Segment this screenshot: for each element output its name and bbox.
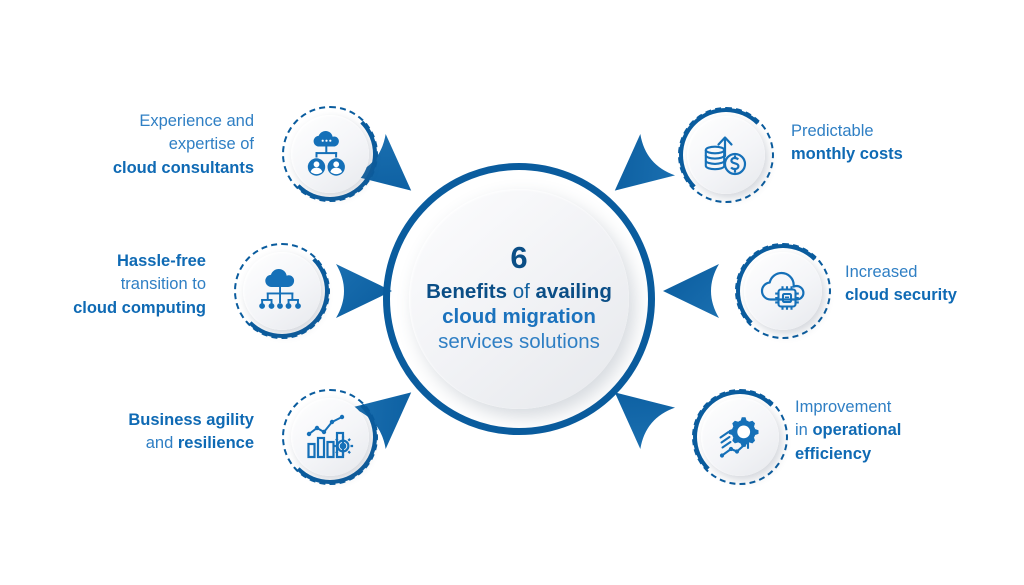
- label-cloud-security: Increased cloud security: [845, 261, 957, 308]
- label-line: Predictable: [791, 120, 903, 143]
- label-prefix: and: [146, 434, 178, 452]
- label-line: transition to: [73, 273, 206, 296]
- badge-inner-disc: [291, 398, 369, 476]
- label-prefix: in: [795, 421, 812, 439]
- center-hub: 6 Benefits of availing cloud migration s…: [383, 163, 655, 435]
- label-line-bold: cloud computing: [73, 297, 206, 320]
- label-line: Experience and: [113, 110, 254, 133]
- label-line: Increased: [845, 261, 957, 284]
- hub-inner-disc: 6 Benefits of availing cloud migration s…: [409, 189, 629, 409]
- hub-title-bold-b: availing: [536, 280, 612, 303]
- label-line-mixed: and resilience: [128, 432, 254, 455]
- label-line: expertise of: [113, 133, 254, 156]
- label-line-bold: monthly costs: [791, 143, 903, 166]
- node-monthly-costs[interactable]: [678, 107, 774, 203]
- label-cloud-consultants: Experience and expertise of cloud consul…: [113, 110, 254, 180]
- badge-inner-disc: [687, 116, 765, 194]
- cloud-chip-icon: [759, 270, 807, 312]
- label-monthly-costs: Predictable monthly costs: [791, 120, 903, 167]
- label-line-bold: cloud security: [845, 284, 957, 307]
- label-strong: operational: [812, 421, 901, 439]
- hub-number: 6: [510, 242, 527, 275]
- badge-inner-disc: [701, 398, 779, 476]
- gear-trend-arrow-icon: [717, 415, 763, 459]
- bar-chart-gear-icon: [306, 414, 354, 460]
- hub-title-line-2: cloud migration: [442, 304, 596, 329]
- node-business-agility[interactable]: [282, 389, 378, 485]
- badge-inner-disc: [291, 115, 369, 193]
- label-strong: resilience: [178, 434, 254, 452]
- label-operational-efficiency: Improvement in operational efficiency: [795, 396, 901, 466]
- label-line-bold: cloud consultants: [113, 157, 254, 180]
- hub-title-regular: of: [507, 280, 536, 303]
- badge-inner-disc: [243, 252, 321, 330]
- label-cloud-computing: Hassle-free transition to cloud computin…: [73, 250, 206, 320]
- cloud-migration-benefits-infographic: 6 Benefits of availing cloud migration s…: [0, 0, 1024, 585]
- inward-arrow-middle-right: [655, 254, 729, 328]
- label-line-bold: Business agility: [128, 409, 254, 432]
- node-cloud-security[interactable]: [735, 243, 831, 339]
- label-business-agility: Business agility and resilience: [128, 409, 254, 456]
- hub-title-line-1: Benefits of availing: [426, 279, 612, 304]
- hub-title-bold-a: Benefits: [426, 280, 507, 303]
- node-cloud-consultants[interactable]: [282, 106, 378, 202]
- node-operational-efficiency[interactable]: [692, 389, 788, 485]
- hub-title-line-3: services solutions: [438, 329, 600, 356]
- badge-inner-disc: [744, 252, 822, 330]
- cloud-network-icon: [259, 269, 305, 313]
- label-line-bold: Hassle-free: [73, 250, 206, 273]
- label-line-mixed: in operational: [795, 419, 901, 442]
- coins-arrow-dollar-icon: [703, 132, 749, 178]
- node-cloud-computing[interactable]: [234, 243, 330, 339]
- label-line: Improvement: [795, 396, 901, 419]
- label-line-bold: efficiency: [795, 443, 901, 466]
- cloud-users-icon: [306, 131, 354, 177]
